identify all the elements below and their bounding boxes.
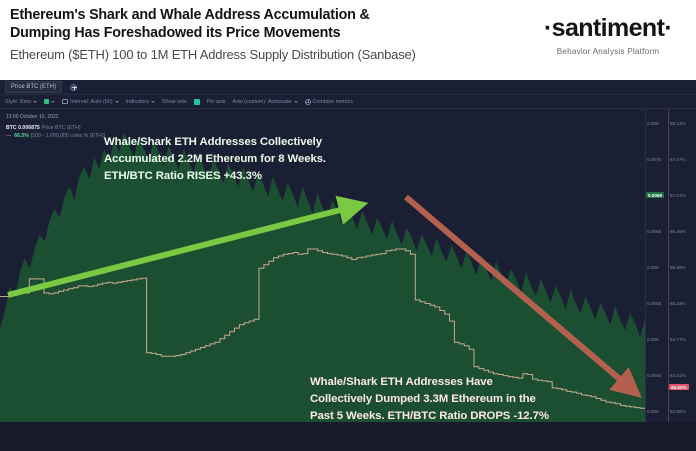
toolbar-indicators-control[interactable]: Indicators xyxy=(126,99,155,105)
brand-block: ·santiment· Behavior Analysis Platform xyxy=(520,0,696,56)
annotation-accumulation-line-2: Accumulated 2.2M Ethereum for 8 Weeks. xyxy=(104,151,434,168)
tab-price-btc-eth[interactable]: Price BTC (ETH) xyxy=(5,81,62,93)
price-axis-tick: 0.005 xyxy=(647,337,659,342)
percent-axis-tick: 64.77% xyxy=(670,337,686,342)
page-title-line-2: Dumping Has Foreshadowed its Price Movem… xyxy=(10,25,520,43)
toolbar-style-label: Style: Bars xyxy=(5,99,31,105)
chevron-down-icon xyxy=(115,101,119,103)
toolbar-axis-custom-label: Axis (custom): Autoscale xyxy=(232,99,291,105)
chevron-down-icon xyxy=(51,101,55,103)
show-axis-text: Show axis xyxy=(162,99,187,105)
metric-tab-bar: Price BTC (ETH) xyxy=(0,80,696,95)
chevron-down-icon xyxy=(151,101,155,103)
line-marker-icon: — xyxy=(6,132,11,140)
tooltip-supply-value: 66.5% xyxy=(14,132,29,140)
toolbar-show-axis-label: Show axis xyxy=(162,99,187,105)
annotation-accumulation-line-3: ETH/BTC Ratio RISES +43.3% xyxy=(104,168,434,185)
price-axis-tick: 0.0055 xyxy=(647,301,661,306)
color-swatch-icon xyxy=(44,99,49,104)
chart-toolbar: Style: Bars Interval: Auto (6h) Indicato… xyxy=(0,95,696,109)
brand-tagline: Behavior Analysis Platform xyxy=(520,47,696,56)
tooltip-price-label: Price BTC (ETH) xyxy=(42,124,81,132)
add-metric-icon[interactable] xyxy=(70,84,77,91)
price-axis-tick: 0.0075 xyxy=(647,157,661,162)
annotation-dumping-line-1: Whale/Shark ETH Addresses Have xyxy=(310,374,670,391)
tooltip-row-supply: — 66.5% [100 - 1,000,000 coins % (ETH)] xyxy=(6,132,105,140)
annotation-accumulation: Whale/Shark ETH Addresses Collectively A… xyxy=(104,134,434,185)
toolbar-show-axis-checkbox[interactable] xyxy=(194,99,200,105)
header-text-block: Ethereum's Shark and Whale Address Accum… xyxy=(0,0,520,62)
screenshot-root: Ethereum's Shark and Whale Address Accum… xyxy=(0,0,696,451)
tooltip-row-price: BTC 0.006875 Price BTC (ETH) xyxy=(6,124,105,132)
santiment-logo: ·santiment· xyxy=(520,14,696,43)
percent-axis-tick: 68.13% xyxy=(670,121,686,126)
calendar-icon xyxy=(62,99,68,104)
price-axis-tick: 0.006 xyxy=(647,265,659,270)
percent-axis-current-value: 66.50% xyxy=(669,384,689,390)
chevron-down-icon xyxy=(294,101,298,103)
toolbar-combine-metrics-control[interactable]: Combine metrics xyxy=(305,99,353,105)
page-subtitle: Ethereum ($ETH) 100 to 1M ETH Address Su… xyxy=(10,47,520,62)
price-axis-tick: 0.008 xyxy=(647,121,659,126)
window-bottom-chrome xyxy=(0,422,696,451)
checkbox-checked-icon xyxy=(194,99,200,105)
percent-axis-tick: 67.57% xyxy=(670,157,686,162)
toolbar-interval-label: Interval: Auto (6h) xyxy=(70,99,113,105)
price-axis-tick: 0.0065 xyxy=(647,229,661,234)
tooltip-date: 13:00 October 16, 2022 xyxy=(6,113,105,121)
toolbar-pin-axis-label: Pin axis xyxy=(207,99,226,105)
tooltip-price-value: BTC 0.006875 xyxy=(6,124,40,132)
percent-axis-tick: 65.33% xyxy=(670,301,686,306)
annotation-dumping: Whale/Shark ETH Addresses Have Collectiv… xyxy=(310,374,670,425)
chart-application: Price BTC (ETH) Style: Bars Interval: Au… xyxy=(0,80,696,451)
percent-axis-tick: 63.65% xyxy=(670,409,686,414)
chevron-down-icon xyxy=(33,101,37,103)
percent-axis-tick: 67.01% xyxy=(670,193,686,198)
annotation-dumping-line-3: Past 5 Weeks. ETH/BTC Ratio DROPS -12.7% xyxy=(310,408,670,425)
chart-tooltip: 13:00 October 16, 2022 BTC 0.006875 Pric… xyxy=(6,113,105,140)
percent-axis-tick: 66.45% xyxy=(670,229,686,234)
percent-axis[interactable]: 68.13%67.57%67.01%66.45%65.89%65.33%64.7… xyxy=(668,109,696,432)
toolbar-interval-control[interactable]: Interval: Auto (6h) xyxy=(62,99,119,105)
toolbar-style-control[interactable]: Style: Bars xyxy=(5,99,37,105)
plus-circle-icon xyxy=(305,99,311,105)
toolbar-pin-axis-control[interactable]: Pin axis xyxy=(207,99,226,105)
toolbar-axis-custom-control[interactable]: Axis (custom): Autoscale xyxy=(232,99,297,105)
tooltip-supply-label: [100 - 1,000,000 coins % (ETH)] xyxy=(31,132,105,140)
toolbar-color-control[interactable] xyxy=(44,99,55,104)
toolbar-indicators-label: Indicators xyxy=(126,99,149,105)
price-axis-current-value: 0.0069 xyxy=(646,192,664,198)
header: Ethereum's Shark and Whale Address Accum… xyxy=(0,0,696,80)
annotation-accumulation-line-1: Whale/Shark ETH Addresses Collectively xyxy=(104,134,434,151)
plot-area: 13:00 October 16, 2022 BTC 0.006875 Pric… xyxy=(0,109,696,451)
page-title-line-1: Ethereum's Shark and Whale Address Accum… xyxy=(10,7,520,25)
percent-axis-tick: 65.89% xyxy=(670,265,686,270)
toolbar-combine-metrics-label: Combine metrics xyxy=(313,99,353,105)
annotation-dumping-line-2: Collectively Dumped 3.3M Ethereum in the xyxy=(310,391,670,408)
percent-axis-tick: 64.21% xyxy=(670,373,686,378)
